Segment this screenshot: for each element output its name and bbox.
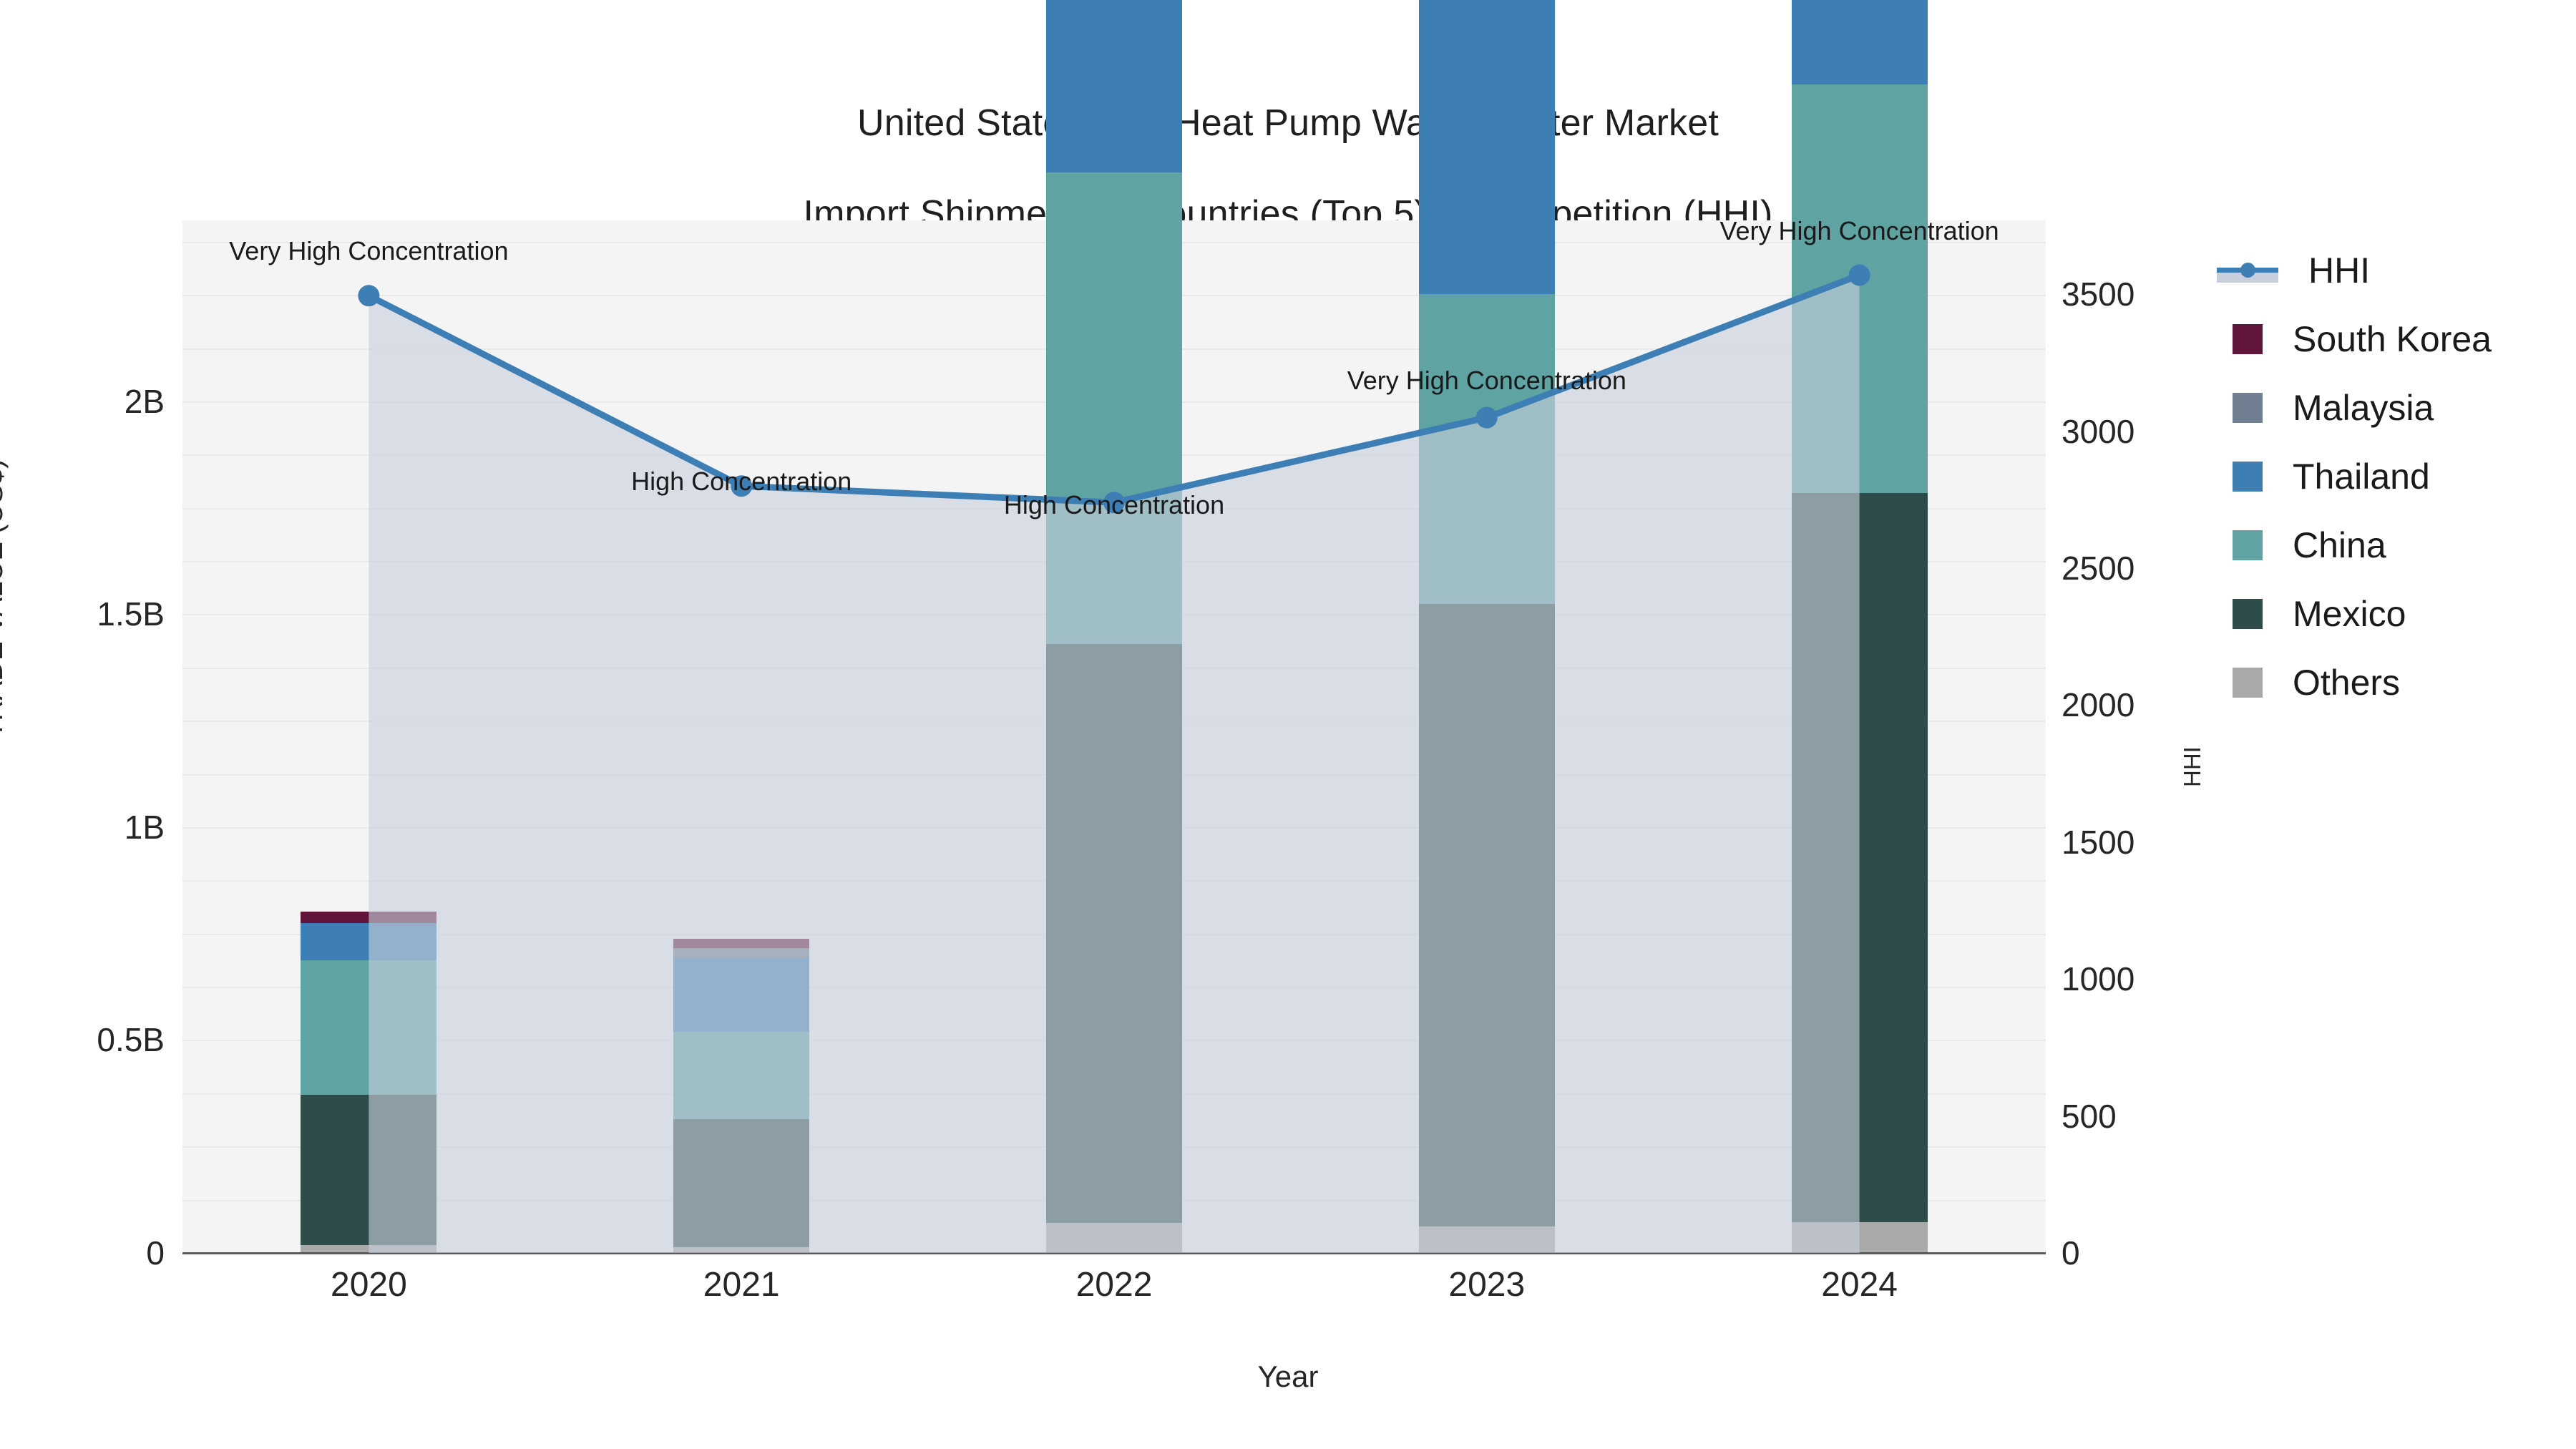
legend-item-label: Others <box>2293 662 2400 703</box>
bar-segment <box>1046 0 1182 172</box>
bar-segment <box>301 923 436 960</box>
y-axis-left-tick-label: 1B <box>0 808 165 847</box>
y-axis-right-label: HHI <box>2179 746 2206 787</box>
y-axis-right-tick-label: 1500 <box>2062 823 2276 862</box>
bar-segment <box>1046 172 1182 644</box>
legend-line-marker-icon <box>2217 255 2278 286</box>
legend-item-others[interactable]: Others <box>2217 648 2492 717</box>
legend-item-label: China <box>2293 525 2386 566</box>
y-axis-right-tick-label: 1000 <box>2062 960 2276 998</box>
bar-segment <box>1046 644 1182 1223</box>
legend-color-swatch <box>2233 530 2263 560</box>
legend-color-swatch <box>2233 668 2263 698</box>
y-axis-right-tick-label: 0 <box>2062 1234 2276 1272</box>
legend-item-malaysia[interactable]: Malaysia <box>2217 374 2492 442</box>
legend-item-label: Mexico <box>2293 593 2406 635</box>
bar-segment <box>1419 1226 1555 1253</box>
legend-item-south-korea[interactable]: South Korea <box>2217 305 2492 374</box>
legend-item-china[interactable]: China <box>2217 511 2492 580</box>
bar-segment <box>1792 84 1928 493</box>
bar-segment <box>673 958 809 1031</box>
bar-segment <box>1419 0 1555 294</box>
chart-figure: United States (Us) Heat Pump Water Heate… <box>0 0 2576 1449</box>
bar-segment <box>1419 604 1555 1227</box>
bar-segment <box>1792 0 1928 84</box>
bar-segment <box>673 948 809 958</box>
concentration-annotation: Very High Concentration <box>1719 216 1999 246</box>
y-axis-left-tick-label: 2B <box>0 382 165 421</box>
x-axis-tick-label: 2024 <box>1752 1265 1967 1304</box>
x-axis-tick-label: 2022 <box>1007 1265 1221 1304</box>
legend-item-label: Thailand <box>2293 456 2430 497</box>
bar-segment <box>1419 294 1555 604</box>
concentration-annotation: High Concentration <box>1004 490 1224 520</box>
legend-item-hhi[interactable]: HHI <box>2217 236 2492 305</box>
y-axis-left-tick-label: 1.5B <box>0 595 165 633</box>
legend-line-dot <box>2240 263 2255 278</box>
legend-color-swatch <box>2233 324 2263 354</box>
x-axis-tick-label: 2021 <box>634 1265 849 1304</box>
y-axis-left-tick-label: 0.5B <box>0 1020 165 1059</box>
legend-item-mexico[interactable]: Mexico <box>2217 580 2492 648</box>
bar-segment <box>673 1032 809 1120</box>
x-axis-tick-label: 2023 <box>1380 1265 1594 1304</box>
concentration-annotation: High Concentration <box>631 467 852 497</box>
bar-segment <box>673 1119 809 1247</box>
bar-segment <box>673 939 809 947</box>
concentration-annotation: Very High Concentration <box>1347 366 1626 396</box>
x-axis-line <box>182 1252 2046 1254</box>
y-axis-left-tick-label: 0 <box>0 1234 165 1272</box>
bar-segment <box>1046 1223 1182 1253</box>
legend-color-swatch <box>2233 393 2263 423</box>
x-axis-label: Year <box>0 1360 2576 1394</box>
plot-area <box>182 220 2046 1253</box>
chart-title-line-1: United States (Us) Heat Pump Water Heate… <box>0 101 2576 146</box>
legend-item-label: Malaysia <box>2293 387 2434 429</box>
bar-segment <box>301 960 436 1096</box>
chart-legend: HHISouth KoreaMalaysiaThailandChinaMexic… <box>2217 236 2492 717</box>
concentration-annotation: Very High Concentration <box>229 236 508 266</box>
bar-segment <box>1792 493 1928 1221</box>
x-axis-tick-label: 2020 <box>261 1265 476 1304</box>
legend-item-label: South Korea <box>2293 318 2492 360</box>
legend-item-label: HHI <box>2308 250 2370 291</box>
bar-segment <box>301 1095 436 1244</box>
legend-color-swatch <box>2233 462 2263 492</box>
legend-item-thailand[interactable]: Thailand <box>2217 442 2492 511</box>
y-axis-right-tick-label: 500 <box>2062 1097 2276 1136</box>
bar-segment <box>1792 1222 1928 1253</box>
bar-segment <box>301 912 436 922</box>
legend-color-swatch <box>2233 599 2263 629</box>
y-axis-left-label: TRADE VALUE (US$) <box>0 459 9 738</box>
